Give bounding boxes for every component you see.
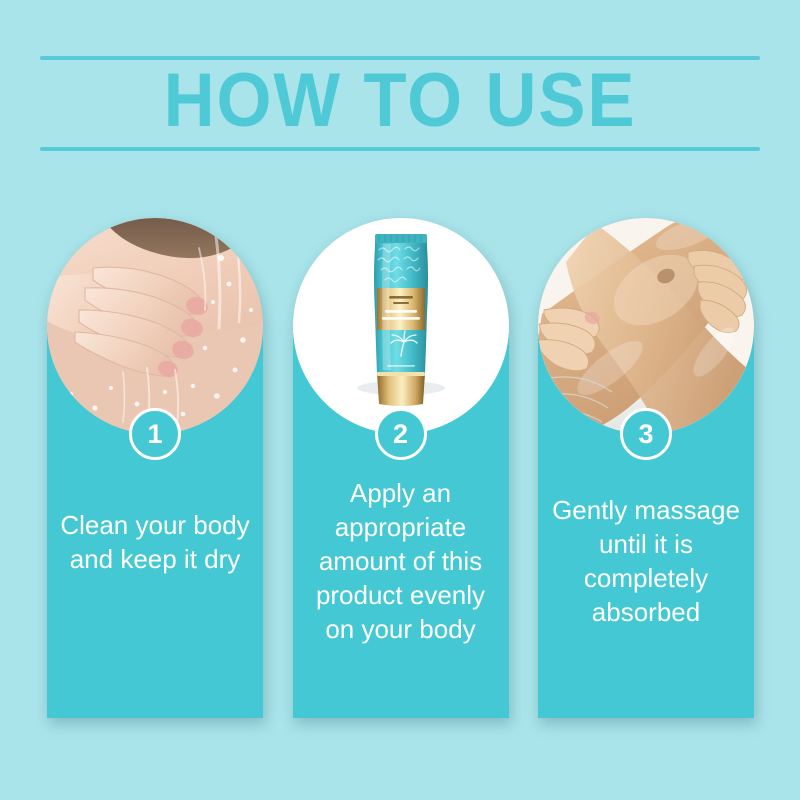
page-title: HOW TO USE xyxy=(28,58,772,144)
step-2-caption: Apply an appropriate amount of this prod… xyxy=(299,476,503,646)
step-3-image-circle xyxy=(538,218,754,434)
step-1-caption: Clean your body and keep it dry xyxy=(53,508,257,576)
lotion-tube-product-photo xyxy=(293,218,509,434)
step-2-image-circle xyxy=(293,218,509,434)
step-card-3[interactable]: 3 Gently massage until it is completely … xyxy=(538,218,754,718)
step-2-number-badge: 2 xyxy=(375,408,427,460)
title-rule-bottom xyxy=(40,147,760,151)
step-card-1[interactable]: 1 Clean your body and keep it dry xyxy=(47,218,263,718)
step-3-number-badge: 3 xyxy=(620,408,672,460)
steps-container: 1 Clean your body and keep it dry xyxy=(47,218,754,718)
page-header: HOW TO USE xyxy=(0,0,800,200)
step-card-2[interactable]: 2 Apply an appropriate amount of this pr… xyxy=(293,218,509,718)
legs-being-massaged-photo xyxy=(538,218,754,434)
step-1-number-badge: 1 xyxy=(129,408,181,460)
hand-on-wet-skin-photo xyxy=(47,218,263,434)
step-1-image-circle xyxy=(47,218,263,434)
step-3-caption: Gently massage until it is completely ab… xyxy=(544,493,748,629)
